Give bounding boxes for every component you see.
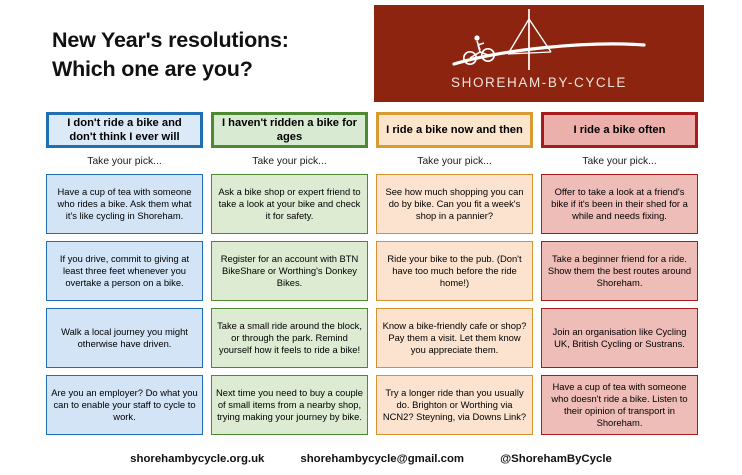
resolutions-grid: I don't ride a bike and don't think I ev… [46,112,698,435]
page-title: New Year's resolutions: Which one are yo… [52,26,372,83]
card-list-never-ride: Have a cup of tea with someone who rides… [46,174,203,435]
resolution-card[interactable]: Are you an employer? Do what you can to … [46,375,203,435]
resolution-card[interactable]: Register for an account with BTN BikeSha… [211,241,368,301]
brand-logo: SHOREHAM-BY-CYCLE [374,5,704,102]
column-not-for-ages: I haven't ridden a bike for ages Take yo… [211,112,368,435]
page-title-line-1: New Year's resolutions: [52,26,372,55]
footer-email[interactable]: shorehambycycle@gmail.com [300,453,464,465]
column-subhead-never-ride: Take your pick... [46,148,203,174]
resolution-card[interactable]: Ride your bike to the pub. (Don't have t… [376,241,533,301]
poster-root: New Year's resolutions: Which one are yo… [0,0,742,475]
footer-social-handle[interactable]: @ShorehamByCycle [500,453,612,465]
resolution-card[interactable]: Ask a bike shop or expert friend to take… [211,174,368,234]
resolution-card[interactable]: Take a beginner friend for a ride. Show … [541,241,698,301]
poster-header: New Year's resolutions: Which one are yo… [0,0,742,108]
resolution-card[interactable]: If you drive, commit to giving at least … [46,241,203,301]
card-list-ride-often: Offer to take a look at a friend's bike … [541,174,698,435]
column-header-not-for-ages: I haven't ridden a bike for ages [211,112,368,148]
logo-wordmark: SHOREHAM-BY-CYCLE [374,75,704,90]
resolution-card[interactable]: Try a longer ride than you usually do. B… [376,375,533,435]
resolution-card[interactable]: Have a cup of tea with someone who rides… [46,174,203,234]
resolution-card[interactable]: Take a small ride around the block, or t… [211,308,368,368]
resolution-card[interactable]: Have a cup of tea with someone who doesn… [541,375,698,435]
resolution-card[interactable]: See how much shopping you can do by bike… [376,174,533,234]
page-title-line-2: Which one are you? [52,55,372,84]
column-subhead-ride-often: Take your pick... [541,148,698,174]
column-header-now-and-then: I ride a bike now and then [376,112,533,148]
card-list-not-for-ages: Ask a bike shop or expert friend to take… [211,174,368,435]
resolution-card[interactable]: Next time you need to buy a couple of sm… [211,375,368,435]
column-header-never-ride: I don't ride a bike and don't think I ev… [46,112,203,148]
footer: shorehambycycle.org.uk shorehambycycle@g… [0,453,742,465]
footer-website[interactable]: shorehambycycle.org.uk [130,453,264,465]
resolution-card[interactable]: Know a bike-friendly cafe or shop? Pay t… [376,308,533,368]
column-ride-often: I ride a bike often Take your pick... Of… [541,112,698,435]
card-list-now-and-then: See how much shopping you can do by bike… [376,174,533,435]
column-subhead-now-and-then: Take your pick... [376,148,533,174]
resolution-card[interactable]: Join an organisation like Cycling UK, Br… [541,308,698,368]
column-subhead-not-for-ages: Take your pick... [211,148,368,174]
column-now-and-then: I ride a bike now and then Take your pic… [376,112,533,435]
resolution-card[interactable]: Walk a local journey you might otherwise… [46,308,203,368]
bridge-icon [374,7,704,71]
resolution-card[interactable]: Offer to take a look at a friend's bike … [541,174,698,234]
column-never-ride: I don't ride a bike and don't think I ev… [46,112,203,435]
column-header-ride-often: I ride a bike often [541,112,698,148]
